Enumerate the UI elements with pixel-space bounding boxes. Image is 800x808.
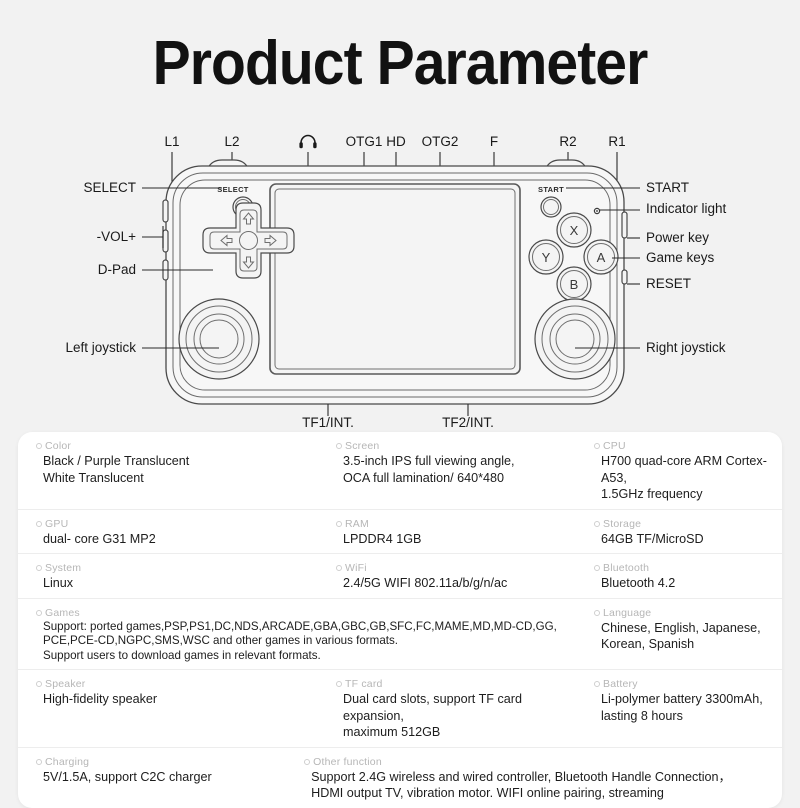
spec-label: Screen [336, 439, 566, 453]
spec-value: Linux [36, 575, 308, 592]
diagram-label-game-keys: Game keys [646, 250, 715, 265]
spec-value: 64GB TF/MicroSD [594, 531, 772, 548]
right-joystick[interactable] [535, 299, 615, 379]
spec-label-text: Other function [313, 755, 382, 769]
bullet-icon [36, 759, 42, 765]
diagram-label-f: F [490, 134, 498, 149]
spec-cell-bluetooth: Bluetooth Bluetooth 4.2 [576, 561, 782, 592]
spec-label-text: Games [45, 606, 80, 620]
spec-cell-other-function: Other function Support 2.4G wireless and… [286, 755, 782, 802]
spec-label: Other function [304, 755, 772, 769]
spec-cell-language: Language Chinese, English, Japanese, Kor… [576, 606, 782, 664]
spec-value: H700 quad-core ARM Cortex-A53, 1.5GHz fr… [594, 453, 772, 503]
spec-label-text: Language [603, 606, 651, 620]
diagram-label-reset: RESET [646, 276, 691, 291]
bullet-icon [594, 681, 600, 687]
diagram-label-right-joystick: Right joystick [646, 340, 726, 355]
spec-row: Color Black / Purple Translucent White T… [18, 432, 782, 510]
spec-value: Black / Purple Translucent White Translu… [36, 453, 308, 486]
spec-label-text: Screen [345, 439, 379, 453]
spec-cell-battery: Battery Li-polymer battery 3300mAh, last… [576, 677, 782, 741]
spec-cell-games: Games Support: ported games,PSP,PS1,DC,N… [18, 606, 576, 664]
spec-cell-system: System Linux [18, 561, 318, 592]
specification-card: Color Black / Purple Translucent White T… [18, 432, 782, 808]
spec-cell-gpu: GPU dual- core G31 MP2 [18, 517, 318, 548]
spec-label-text: Color [45, 439, 71, 453]
spec-label: Charging [36, 755, 276, 769]
bullet-icon [36, 610, 42, 616]
spec-label-text: GPU [45, 517, 68, 531]
spec-label-text: System [45, 561, 81, 575]
spec-label: Bluetooth [594, 561, 772, 575]
diagram-label-tf2: TF2/INT. [442, 415, 494, 430]
bullet-icon [594, 443, 600, 449]
spec-cell-color: Color Black / Purple Translucent White T… [18, 439, 318, 503]
bullet-icon [36, 565, 42, 571]
bullet-icon [594, 610, 600, 616]
diagram-label-tf1: TF1/INT. [302, 415, 354, 430]
spec-cell-wifi: WiFi 2.4/5G WIFI 802.11a/b/g/n/ac [318, 561, 576, 592]
console-screen [270, 184, 520, 374]
bullet-icon [336, 443, 342, 449]
bullet-icon [594, 521, 600, 527]
diagram-label-vol: -VOL+ [97, 229, 137, 244]
left-joystick[interactable] [179, 299, 259, 379]
spec-value: dual- core G31 MP2 [36, 531, 308, 548]
spec-label: Games [36, 606, 566, 620]
spec-label: Battery [594, 677, 772, 691]
spec-value: High-fidelity speaker [36, 691, 308, 708]
bullet-icon [36, 521, 42, 527]
bullet-icon [336, 681, 342, 687]
bullet-icon [594, 565, 600, 571]
diagram-label-r1: R1 [608, 134, 625, 149]
diagram-label-hd: HD [386, 134, 406, 149]
spec-row: Speaker High-fidelity speaker TF card Du… [18, 670, 782, 748]
spec-label: Language [594, 606, 772, 620]
device-marking-select: SELECT [217, 185, 249, 194]
spec-cell-tf-card: TF card Dual card slots, support TF card… [318, 677, 576, 741]
button-b-label: B [570, 277, 579, 292]
spec-row: GPU dual- core G31 MP2 RAM LPDDR4 1GB St… [18, 510, 782, 555]
spec-value: Chinese, English, Japanese, Korean, Span… [594, 620, 772, 653]
spec-label: Color [36, 439, 308, 453]
spec-value: Li-polymer battery 3300mAh, lasting 8 ho… [594, 691, 772, 724]
button-x-label: X [570, 223, 579, 238]
spec-cell-cpu: CPU H700 quad-core ARM Cortex-A53, 1.5GH… [576, 439, 782, 503]
diagram-label-power-key: Power key [646, 230, 709, 245]
bullet-icon [336, 521, 342, 527]
bullet-icon [36, 443, 42, 449]
bullet-icon [336, 565, 342, 571]
spec-value: 3.5-inch IPS full viewing angle, OCA ful… [336, 453, 566, 486]
spec-label-text: CPU [603, 439, 626, 453]
spec-value: Dual card slots, support TF card expansi… [336, 691, 566, 741]
spec-label: Storage [594, 517, 772, 531]
spec-value: Bluetooth 4.2 [594, 575, 772, 592]
spec-label: CPU [594, 439, 772, 453]
diagram-label-l1: L1 [164, 134, 179, 149]
spec-value: 5V/1.5A, support C2C charger [36, 769, 276, 786]
page-title: Product Parameter [32, 28, 768, 100]
spec-label: RAM [336, 517, 566, 531]
spec-label-text: Speaker [45, 677, 86, 691]
spec-label-text: Battery [603, 677, 638, 691]
spec-label: WiFi [336, 561, 566, 575]
spec-cell-ram: RAM LPDDR4 1GB [318, 517, 576, 548]
device-marking-start: START [538, 185, 564, 194]
spec-cell-screen: Screen 3.5-inch IPS full viewing angle, … [318, 439, 576, 503]
diagram-label-left-joystick: Left joystick [65, 340, 136, 355]
spec-label-text: Bluetooth [603, 561, 649, 575]
spec-value: LPDDR4 1GB [336, 531, 566, 548]
spec-label-text: RAM [345, 517, 369, 531]
spec-label: TF card [336, 677, 566, 691]
spec-value: Support 2.4G wireless and wired controll… [304, 769, 772, 802]
diagram-label-dpad: D-Pad [98, 262, 136, 277]
button-y-label: Y [542, 250, 551, 265]
spec-row: System Linux WiFi 2.4/5G WIFI 802.11a/b/… [18, 554, 782, 599]
button-a-label: A [597, 250, 606, 265]
spec-label: Speaker [36, 677, 308, 691]
bullet-icon [36, 681, 42, 687]
spec-cell-storage: Storage 64GB TF/MicroSD [576, 517, 782, 548]
spec-label-text: Storage [603, 517, 641, 531]
spec-cell-charging: Charging 5V/1.5A, support C2C charger [18, 755, 286, 802]
diagram-label-otg2: OTG2 [422, 134, 459, 149]
spec-cell-speaker: Speaker High-fidelity speaker [18, 677, 318, 741]
spec-label: GPU [36, 517, 308, 531]
product-diagram: L1 L2 OTG1 HD OTG2 F R2 R1 SELECT START [0, 120, 800, 430]
spec-row: Charging 5V/1.5A, support C2C charger Ot… [18, 748, 782, 808]
diagram-label-r2: R2 [559, 134, 576, 149]
diagram-label-select: SELECT [83, 180, 136, 195]
spec-label-text: WiFi [345, 561, 367, 575]
spec-value: 2.4/5G WIFI 802.11a/b/g/n/ac [336, 575, 566, 592]
diagram-label-l2: L2 [224, 134, 239, 149]
spec-row: Games Support: ported games,PSP,PS1,DC,N… [18, 599, 782, 671]
indicator-light-dot [596, 210, 598, 212]
diagram-label-start: START [646, 180, 689, 195]
bullet-icon [304, 759, 310, 765]
spec-value: Support: ported games,PSP,PS1,DC,NDS,ARC… [36, 620, 566, 664]
spec-label: System [36, 561, 308, 575]
spec-label-text: TF card [345, 677, 383, 691]
spec-label-text: Charging [45, 755, 89, 769]
headphone-icon [299, 136, 316, 149]
diagram-label-otg1: OTG1 [346, 134, 383, 149]
diagram-label-indicator-light: Indicator light [646, 201, 727, 216]
